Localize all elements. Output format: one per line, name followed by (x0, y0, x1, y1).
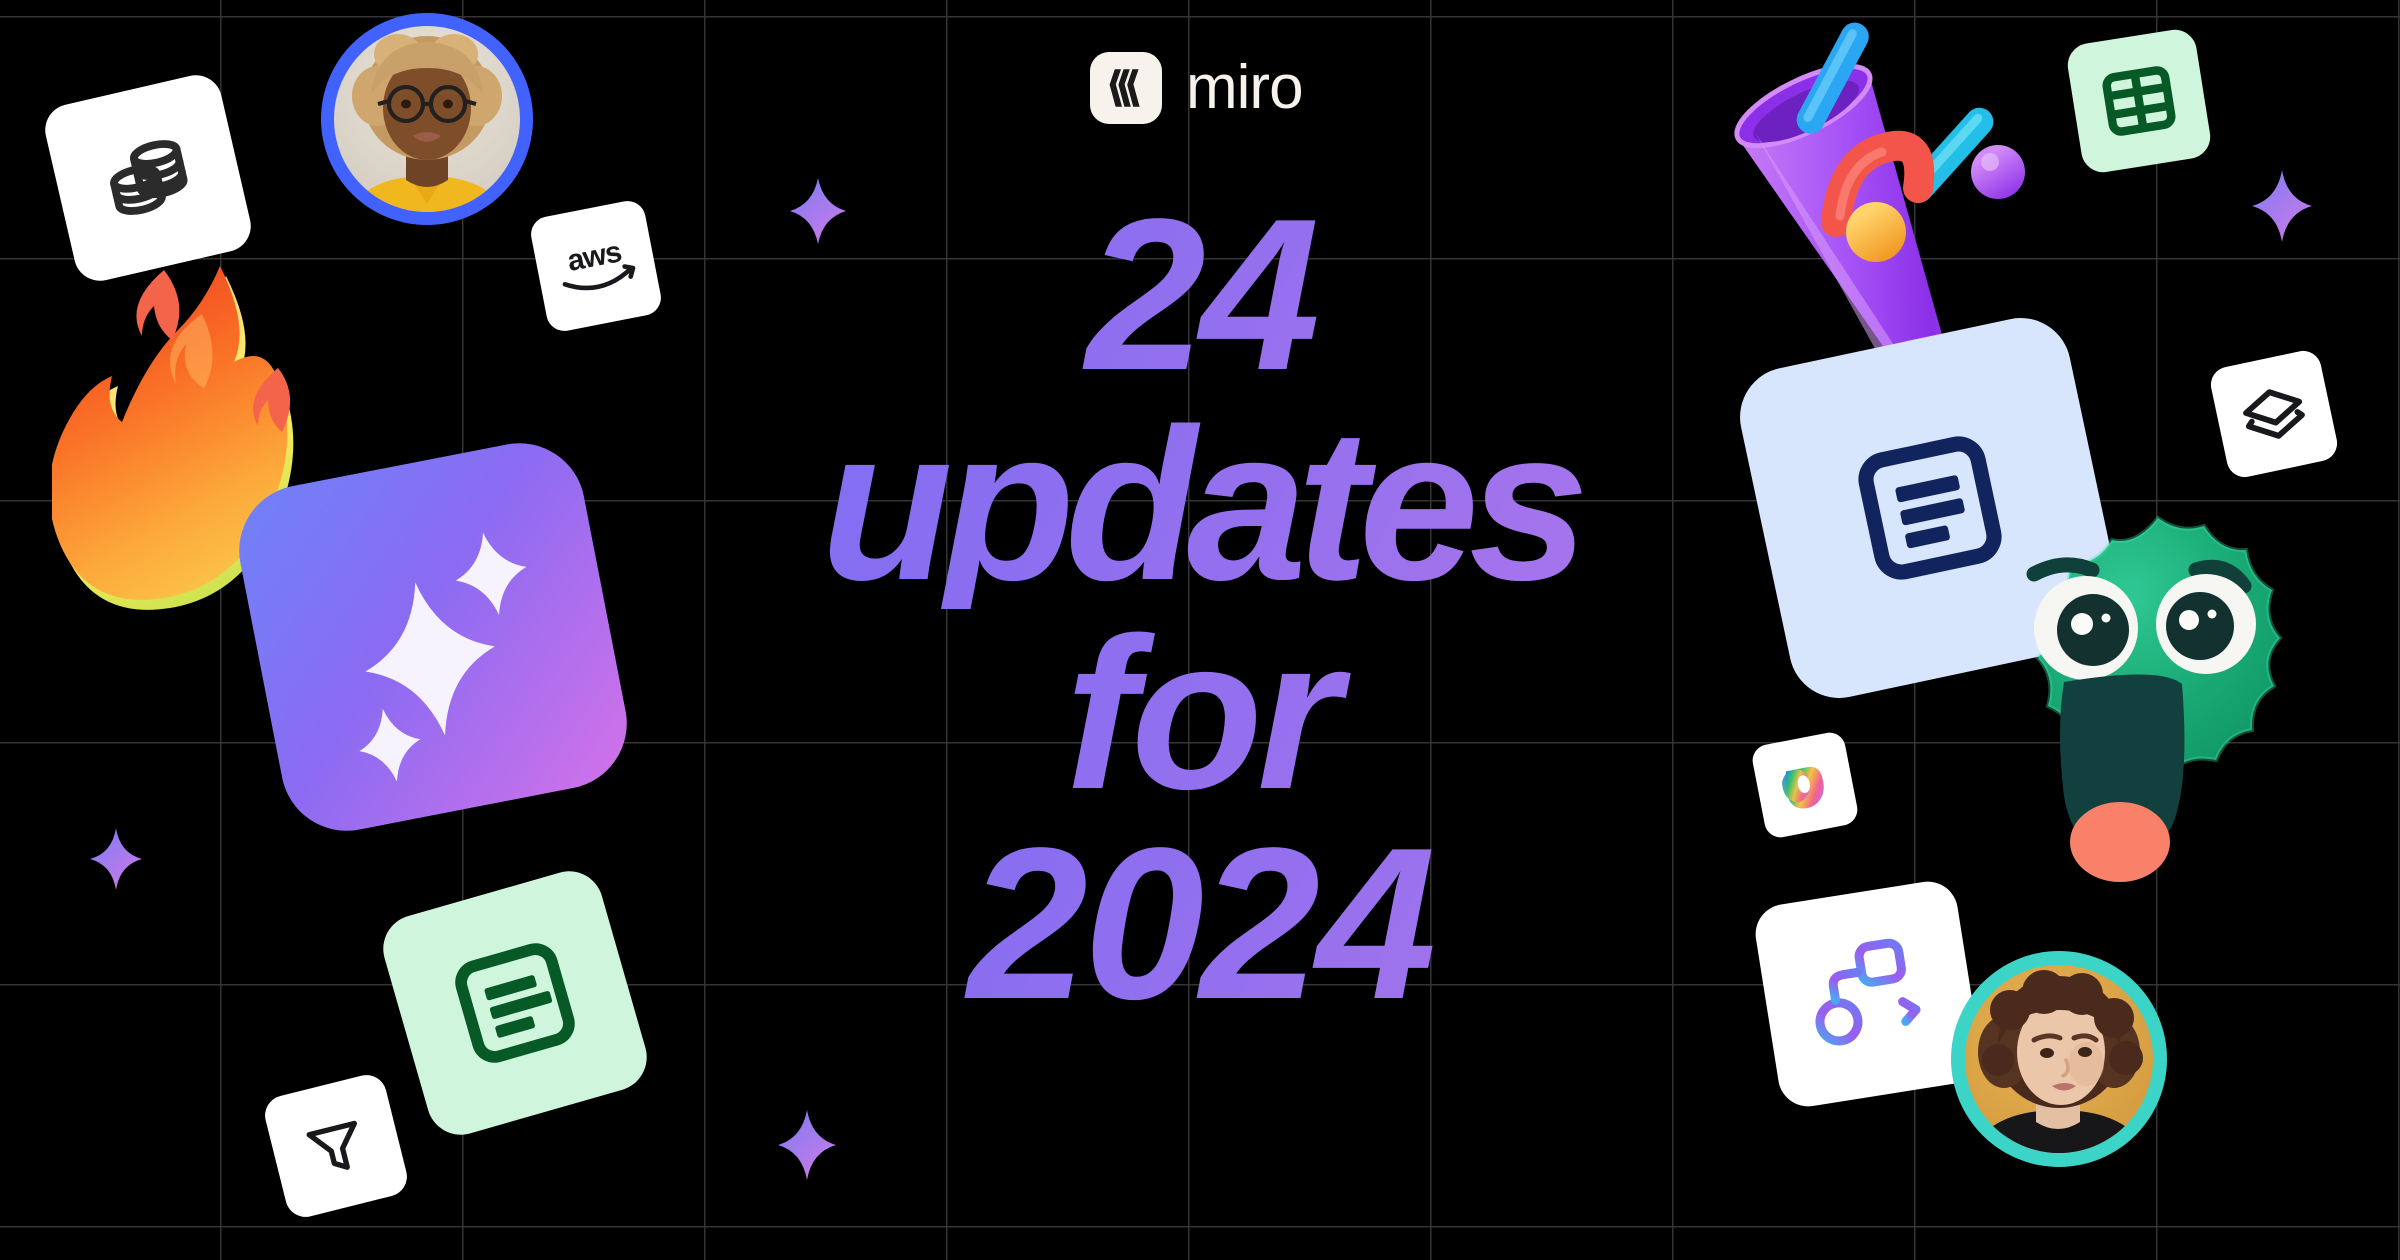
hero-banner: miro 24 updates for 2024 (0, 0, 2400, 1260)
sparkle-bottom-left (90, 828, 142, 890)
miro-logo[interactable]: miro (1090, 52, 1303, 124)
monster-emoji (1948, 512, 2368, 922)
table-card (2065, 27, 2214, 176)
filter-funnel-icon (298, 1108, 373, 1183)
copilot-card (1750, 730, 1860, 840)
ai-sparkle-card (228, 432, 638, 842)
copilot-icon (1770, 751, 1840, 819)
aws-card: aws (528, 198, 664, 334)
coins-stack-icon (86, 116, 211, 241)
flowchart-diagram-icon (1799, 930, 1937, 1058)
table-grid-icon (2096, 58, 2183, 145)
filter-card (261, 1071, 411, 1221)
shocked-monster-icon (2034, 518, 2280, 882)
miro-wordmark: miro (1186, 57, 1303, 119)
layers-icon (2235, 377, 2312, 451)
avatar-person-2[interactable] (1948, 948, 2170, 1170)
avatar-person-1[interactable] (318, 10, 536, 228)
sparkle-top (790, 178, 846, 244)
aws-logo-icon: aws (549, 229, 643, 304)
sparkle-right (2252, 170, 2312, 242)
layers-card (2208, 348, 2341, 481)
form-card (375, 863, 655, 1143)
miro-chevrons-icon (1090, 52, 1162, 124)
document-form-icon (435, 923, 596, 1084)
svg-text:aws: aws (565, 235, 624, 278)
sparkle-bottom (778, 1110, 836, 1180)
